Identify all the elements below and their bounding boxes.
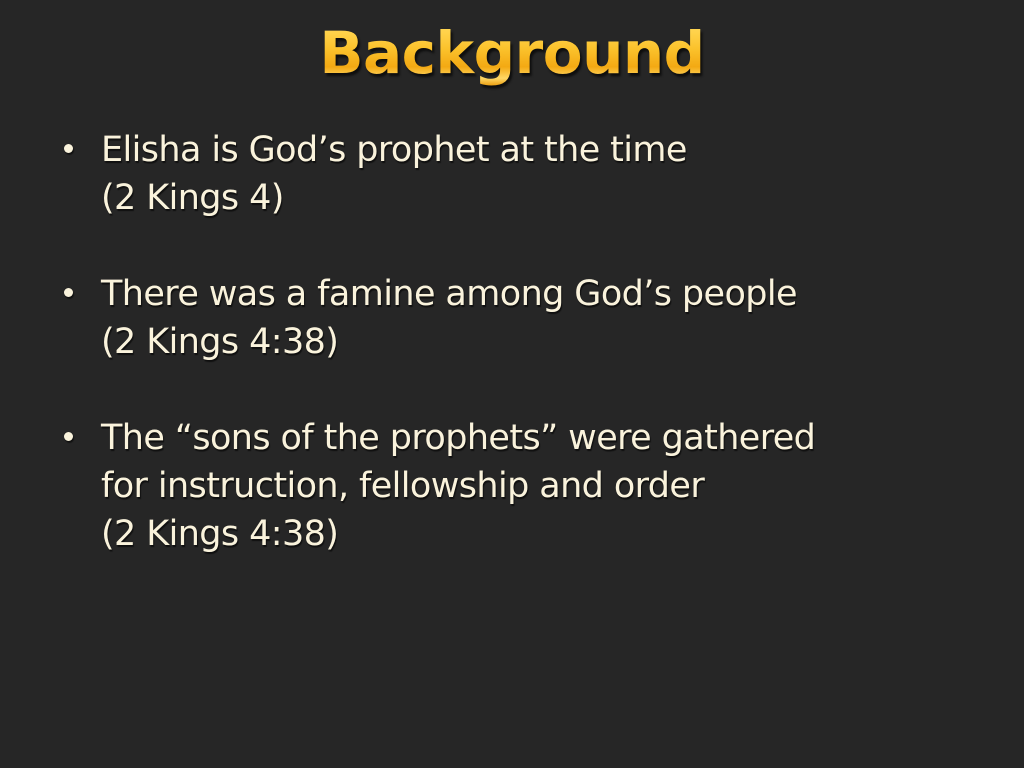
bullet-line: (2 Kings 4:38) xyxy=(101,318,986,366)
bullet-dot-icon xyxy=(64,288,73,297)
bullet-line: There was a famine among God’s people xyxy=(101,270,986,318)
bullet-item-3: The “sons of the prophets” were gathered… xyxy=(56,414,986,558)
bullet-item-3-lines: The “sons of the prophets” were gathered… xyxy=(56,414,986,558)
bullet-item-1: Elisha is God’s prophet at the time (2 K… xyxy=(56,126,986,222)
slide-body: Elisha is God’s prophet at the time (2 K… xyxy=(56,126,986,558)
bullet-dot-icon xyxy=(64,432,73,441)
bullet-item-2-lines: There was a famine among God’s people (2… xyxy=(56,270,986,366)
bullet-item-2: There was a famine among God’s people (2… xyxy=(56,270,986,366)
presentation-slide: Background Elisha is God’s prophet at th… xyxy=(0,0,1024,768)
bullet-line: (2 Kings 4:38) xyxy=(101,510,986,558)
slide-title-container: Background xyxy=(0,22,1024,86)
bullet-line: (2 Kings 4) xyxy=(101,174,986,222)
bullet-item-1-lines: Elisha is God’s prophet at the time (2 K… xyxy=(56,126,986,222)
page-title: Background xyxy=(319,22,704,86)
bullet-dot-icon xyxy=(64,144,73,153)
bullet-line: The “sons of the prophets” were gathered xyxy=(101,414,986,462)
bullet-line: for instruction, fellowship and order xyxy=(101,462,986,510)
bullet-line: Elisha is God’s prophet at the time xyxy=(101,126,986,174)
